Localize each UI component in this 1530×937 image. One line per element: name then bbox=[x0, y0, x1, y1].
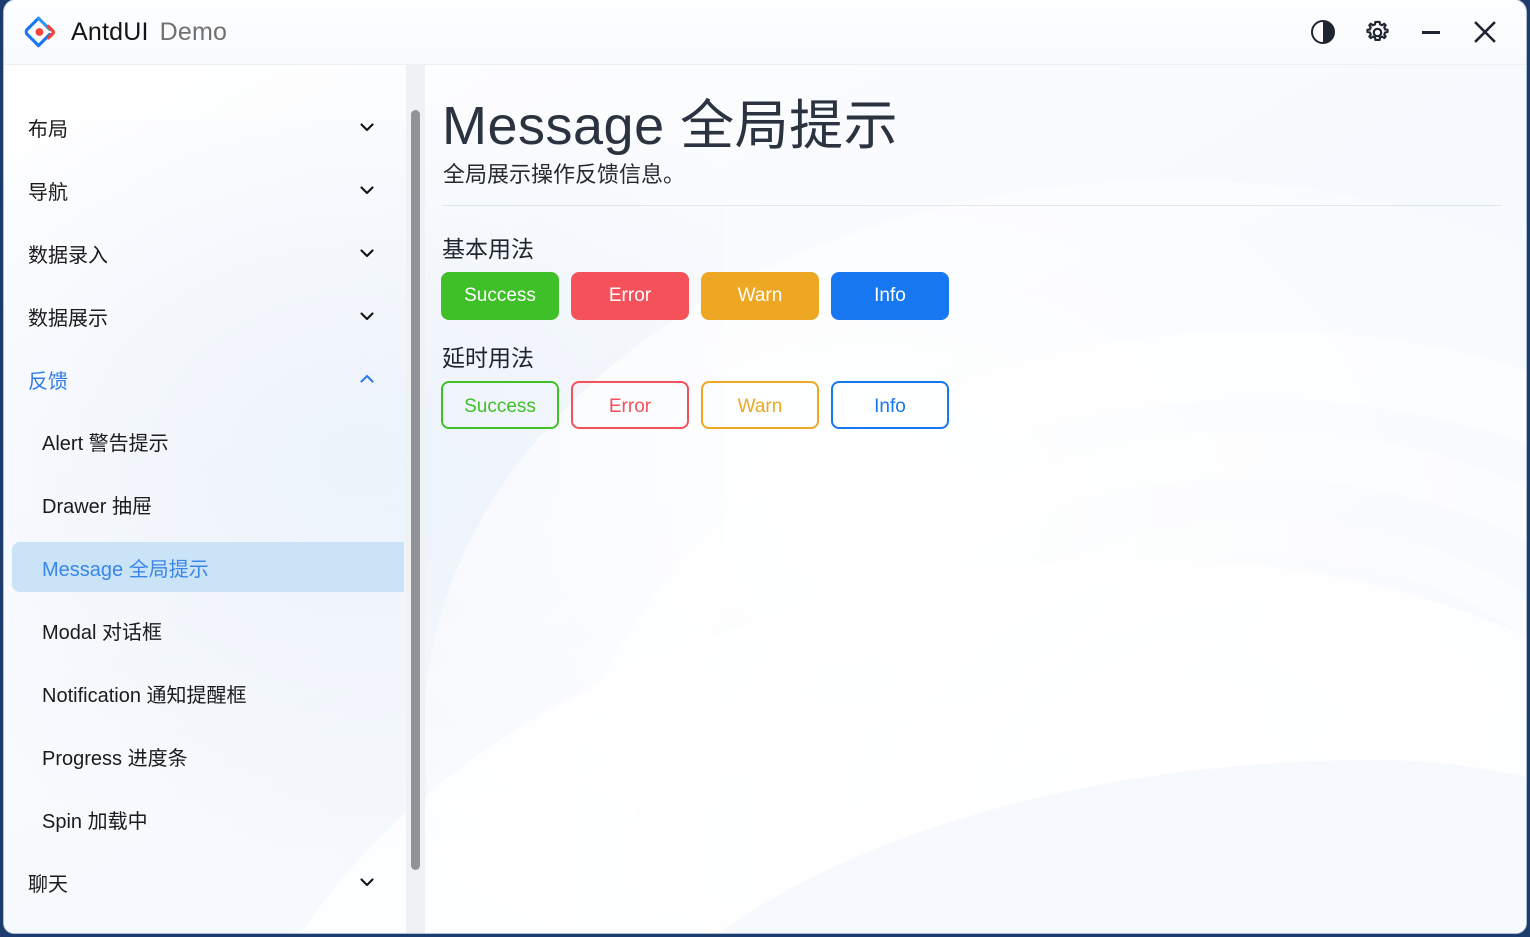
sidebar-item-spin-加载中[interactable]: Spin 加载中 bbox=[12, 794, 404, 844]
section-heading: 延时用法 bbox=[442, 339, 534, 373]
close-icon bbox=[1470, 17, 1500, 47]
sidebar-group-聊天[interactable]: 聊天 bbox=[4, 856, 404, 908]
sidebar-group-label: 导航 bbox=[28, 176, 68, 205]
section-heading: 基本用法 bbox=[442, 230, 534, 264]
sidebar-item-label: Modal 对话框 bbox=[42, 616, 162, 645]
sidebar-group-label: 反馈 bbox=[28, 365, 68, 394]
page-title: Message 全局提示 bbox=[442, 81, 898, 160]
solid-success-button[interactable]: Success bbox=[441, 272, 559, 320]
sidebar-item-alert-警告提示[interactable]: Alert 警告提示 bbox=[12, 416, 404, 466]
sidebar-group-label: 布局 bbox=[28, 113, 68, 142]
sidebar-group-导航[interactable]: 导航 bbox=[4, 164, 404, 216]
app-window: AntdUI Demo bbox=[4, 0, 1526, 933]
ghost-success-button[interactable]: Success bbox=[441, 381, 559, 429]
minimize-icon bbox=[1418, 19, 1444, 45]
antdui-logo-icon bbox=[24, 15, 58, 49]
sidebar-item-label: Notification 通知提醒框 bbox=[42, 679, 247, 708]
sidebar-item-label: Alert 警告提示 bbox=[42, 427, 169, 456]
main-content: Message 全局提示 全局展示操作反馈信息。 基本用法SuccessErro… bbox=[425, 65, 1526, 933]
header-divider bbox=[442, 205, 1502, 206]
theme-toggle-button[interactable] bbox=[1296, 0, 1350, 64]
chevron-down-icon bbox=[358, 307, 376, 325]
sidebar-item-label: Progress 进度条 bbox=[42, 742, 188, 771]
chevron-down-icon bbox=[358, 181, 376, 199]
sidebar-item-modal-对话框[interactable]: Modal 对话框 bbox=[12, 605, 404, 655]
sidebar-scrollbar-thumb[interactable] bbox=[411, 110, 420, 870]
sidebar-item-message-全局提示[interactable]: Message 全局提示 bbox=[12, 542, 404, 592]
sidebar-group-label: 聊天 bbox=[28, 868, 68, 897]
chevron-down-icon bbox=[358, 244, 376, 262]
sidebar-item-progress-进度条[interactable]: Progress 进度条 bbox=[12, 731, 404, 781]
sidebar-item-label: Drawer 抽屉 bbox=[42, 490, 152, 519]
sidebar-group-数据录入[interactable]: 数据录入 bbox=[4, 227, 404, 279]
sidebar-item-drawer-抽屉[interactable]: Drawer 抽屉 bbox=[12, 479, 404, 529]
minimize-button[interactable] bbox=[1404, 0, 1458, 64]
sidebar-group-label: 数据展示 bbox=[28, 302, 108, 331]
ghost-info-button[interactable]: Info bbox=[831, 381, 949, 429]
button-row-ghost: SuccessErrorWarnInfo bbox=[441, 381, 949, 429]
app-subtitle: Demo bbox=[160, 18, 228, 47]
page-description: 全局展示操作反馈信息。 bbox=[443, 157, 685, 189]
sidebar-group-布局[interactable]: 布局 bbox=[4, 101, 404, 153]
sidebar-item-label: Spin 加载中 bbox=[42, 805, 148, 834]
chevron-down-icon bbox=[358, 118, 376, 136]
solid-warn-button[interactable]: Warn bbox=[701, 272, 819, 320]
sidebar-item-notification-通知提醒框[interactable]: Notification 通知提醒框 bbox=[12, 668, 404, 718]
sidebar-navigation[interactable]: 布局导航数据录入数据展示反馈聊天Alert 警告提示Drawer 抽屉Messa… bbox=[4, 65, 404, 933]
sidebar-group-label: 数据录入 bbox=[28, 239, 108, 268]
ghost-warn-button[interactable]: Warn bbox=[701, 381, 819, 429]
chevron-up-icon bbox=[358, 370, 376, 388]
solid-info-button[interactable]: Info bbox=[831, 272, 949, 320]
button-row-solid: SuccessErrorWarnInfo bbox=[441, 272, 949, 320]
solid-error-button[interactable]: Error bbox=[571, 272, 689, 320]
sidebar-item-label: Message 全局提示 bbox=[42, 553, 209, 582]
sidebar-group-数据展示[interactable]: 数据展示 bbox=[4, 290, 404, 342]
ghost-error-button[interactable]: Error bbox=[571, 381, 689, 429]
gear-icon bbox=[1364, 19, 1391, 46]
chevron-down-icon bbox=[358, 873, 376, 891]
half-circle-contrast-icon bbox=[1310, 19, 1336, 45]
window-controls bbox=[1296, 0, 1526, 64]
sidebar-group-反馈[interactable]: 反馈 bbox=[4, 353, 404, 405]
close-button[interactable] bbox=[1458, 0, 1512, 64]
settings-button[interactable] bbox=[1350, 0, 1404, 64]
app-title: AntdUI bbox=[71, 18, 149, 47]
title-bar: AntdUI Demo bbox=[4, 0, 1526, 65]
